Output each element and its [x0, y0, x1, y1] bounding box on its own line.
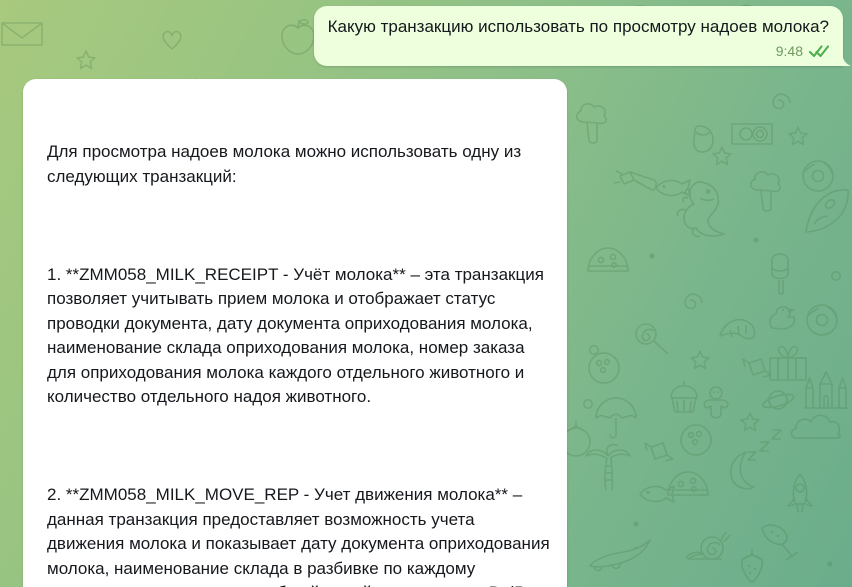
- message-paragraph-1: Для просмотра надоев молока можно исполь…: [47, 140, 551, 189]
- chat-message-list[interactable]: Какую транзакцию использовать по просмот…: [0, 0, 852, 587]
- message-row-incoming: Для просмотра надоев молока можно исполь…: [14, 79, 567, 587]
- message-meta-outgoing: 9:48: [328, 41, 829, 61]
- bubble-tail-outgoing: [842, 49, 851, 66]
- message-paragraph-3: 2. **ZMM058_MILK_MOVE_REP - Учет движени…: [47, 483, 551, 587]
- message-bubble-incoming[interactable]: Для просмотра надоев молока можно исполь…: [23, 79, 567, 587]
- double-check-icon: [809, 45, 829, 57]
- message-text-incoming: Для просмотра надоев молока можно исполь…: [33, 91, 551, 587]
- message-timestamp: 9:48: [776, 42, 803, 60]
- message-bubble-outgoing[interactable]: Какую транзакцию использовать по просмот…: [314, 6, 843, 66]
- message-text-outgoing: Какую транзакцию использовать по просмот…: [328, 15, 829, 40]
- message-row-outgoing: Какую транзакцию использовать по просмот…: [314, 6, 852, 66]
- message-paragraph-2: 1. **ZMM058_MILK_RECEIPT - Учёт молока**…: [47, 263, 551, 410]
